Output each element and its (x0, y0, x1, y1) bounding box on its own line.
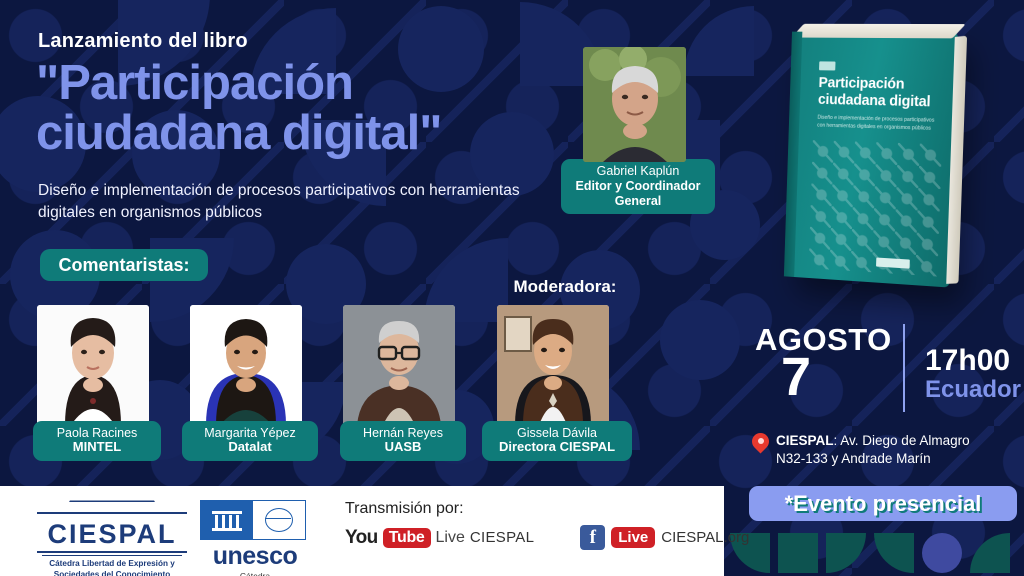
speaker-caption: Paola Racines MINTEL (33, 421, 161, 461)
unesco-sublabel: Cátedra (200, 571, 310, 576)
avatar (37, 305, 149, 425)
ciespal-tagline-line-1: Cátedra Libertad de Expresión y (32, 559, 192, 570)
youtube-tube-badge: Tube (383, 528, 431, 548)
venue-name: CIESPAL (776, 433, 834, 448)
book-top-edge (792, 24, 966, 39)
presencial-badge: *Evento presencial (749, 486, 1017, 521)
speaker-card: Margarita Yépez Datalat (190, 305, 302, 461)
label-comentaristas: Comentaristas: (40, 249, 208, 281)
speaker-name: Margarita Yépez (186, 426, 314, 440)
ciespal-roof-icon (37, 498, 187, 520)
youtube-link[interactable]: You Tube Live CIESPAL (345, 527, 534, 549)
transmission-section: Transmisión por: You Tube Live CIESPAL f… (345, 500, 715, 550)
ciespal-logo: CIESPAL Cátedra Libertad de Expresión y … (32, 498, 192, 576)
feature-speaker-card: Gabriel Kaplún Editor y Coordinador Gene… (583, 47, 686, 214)
presencial-badge-label: *Evento presencial (785, 491, 982, 517)
speaker-org: MINTEL (37, 440, 157, 455)
title-line-2: ciudadana digital" (36, 108, 556, 158)
unesco-logo: unesco Cátedra (200, 500, 310, 576)
portrait-illustration (343, 305, 455, 425)
book-title: Participación ciudadana digital (818, 75, 943, 112)
facebook-domain: CIESPAL.org (661, 529, 749, 546)
feature-speaker-role-line1: Editor y Coordinador (565, 179, 711, 194)
unesco-globe-icon (253, 501, 305, 539)
speaker-name: Paola Racines (37, 426, 157, 440)
book-cover-pattern (809, 140, 942, 276)
label-moderadora: Moderadora: (505, 275, 625, 299)
book-title-line-2: ciudadana digital (818, 92, 942, 112)
speaker-org: Directora CIESPAL (486, 440, 628, 455)
book-tag-badge (819, 61, 836, 70)
book-cover: Participación ciudadana digital Diseño e… (784, 32, 958, 288)
unesco-emblem (200, 500, 306, 540)
event-day: 7 (781, 350, 811, 404)
facebook-icon: f (580, 525, 605, 550)
avatar (497, 305, 609, 425)
avatar (190, 305, 302, 425)
speaker-caption: Hernán Reyes UASB (340, 421, 466, 461)
divider (42, 555, 182, 556)
book-subtitle: Diseño e implementación de procesos part… (817, 115, 939, 134)
unesco-temple-icon (201, 501, 253, 539)
speaker-card: Paola Racines MINTEL (37, 305, 149, 461)
portrait-illustration (497, 305, 609, 425)
speaker-org: Datalat (186, 440, 314, 455)
divider (37, 551, 187, 553)
title-line-1: "Participación (36, 58, 556, 108)
avatar (343, 305, 455, 425)
divider (903, 324, 905, 412)
ciespal-tagline-line-2: Sociedades del Conocimiento (32, 570, 192, 576)
facebook-link[interactable]: f Live CIESPAL.org (580, 525, 749, 550)
youtube-channel-name: CIESPAL (470, 529, 534, 546)
unesco-wordmark: unesco (200, 544, 310, 569)
event-address: CIESPAL: Av. Diego de Almagro N32-133 y … (776, 432, 970, 468)
event-timezone: Ecuador (925, 376, 1021, 404)
book-spine (784, 32, 802, 277)
speaker-name: Hernán Reyes (344, 426, 462, 440)
feature-speaker-role-line2: General (565, 194, 711, 209)
youtube-live-text: Live (436, 529, 465, 547)
facebook-live-badge: Live (611, 527, 655, 548)
portrait-illustration (583, 47, 686, 162)
footer-bar: CIESPAL Cátedra Libertad de Expresión y … (0, 486, 724, 576)
location-pin-icon (752, 433, 769, 457)
event-location: CIESPAL: Av. Diego de Almagro N32-133 y … (752, 432, 1020, 468)
ciespal-wordmark: CIESPAL (32, 521, 192, 548)
avatar (583, 47, 686, 162)
page-kicker: Lanzamiento del libro (38, 30, 248, 53)
event-poster: Lanzamiento del libro "Participación ciu… (0, 0, 1024, 576)
speaker-caption: Margarita Yépez Datalat (182, 421, 318, 461)
book-pages (946, 36, 967, 284)
youtube-you-text: You (345, 527, 378, 549)
portrait-illustration (190, 305, 302, 425)
book-mockup: Participación ciudadana digital Diseño e… (762, 12, 1007, 302)
feature-speaker-name: Gabriel Kaplún (565, 164, 711, 179)
bottom-right-pattern (730, 527, 1024, 576)
ciespal-tagline: Cátedra Libertad de Expresión y Sociedad… (32, 559, 192, 576)
event-time: 17h00 (925, 344, 1010, 378)
speaker-card: Hernán Reyes UASB (343, 305, 455, 461)
feature-speaker-caption: Gabriel Kaplún Editor y Coordinador Gene… (561, 159, 715, 214)
speaker-name: Gissela Dávila (486, 426, 628, 440)
speaker-caption: Gissela Dávila Directora CIESPAL (482, 421, 632, 461)
page-title: "Participación ciudadana digital" (36, 58, 556, 159)
transmission-title: Transmisión por: (345, 500, 715, 518)
address-line-2: N32-133 y Andrade Marín (776, 451, 931, 466)
speaker-card: Gissela Dávila Directora CIESPAL (497, 305, 609, 461)
portrait-illustration (37, 305, 149, 425)
event-month: AGOSTO (755, 322, 892, 358)
speaker-org: UASB (344, 440, 462, 455)
page-subtitle: Diseño e implementación de procesos part… (38, 180, 538, 225)
address-line-1: : Av. Diego de Almagro (834, 433, 970, 448)
